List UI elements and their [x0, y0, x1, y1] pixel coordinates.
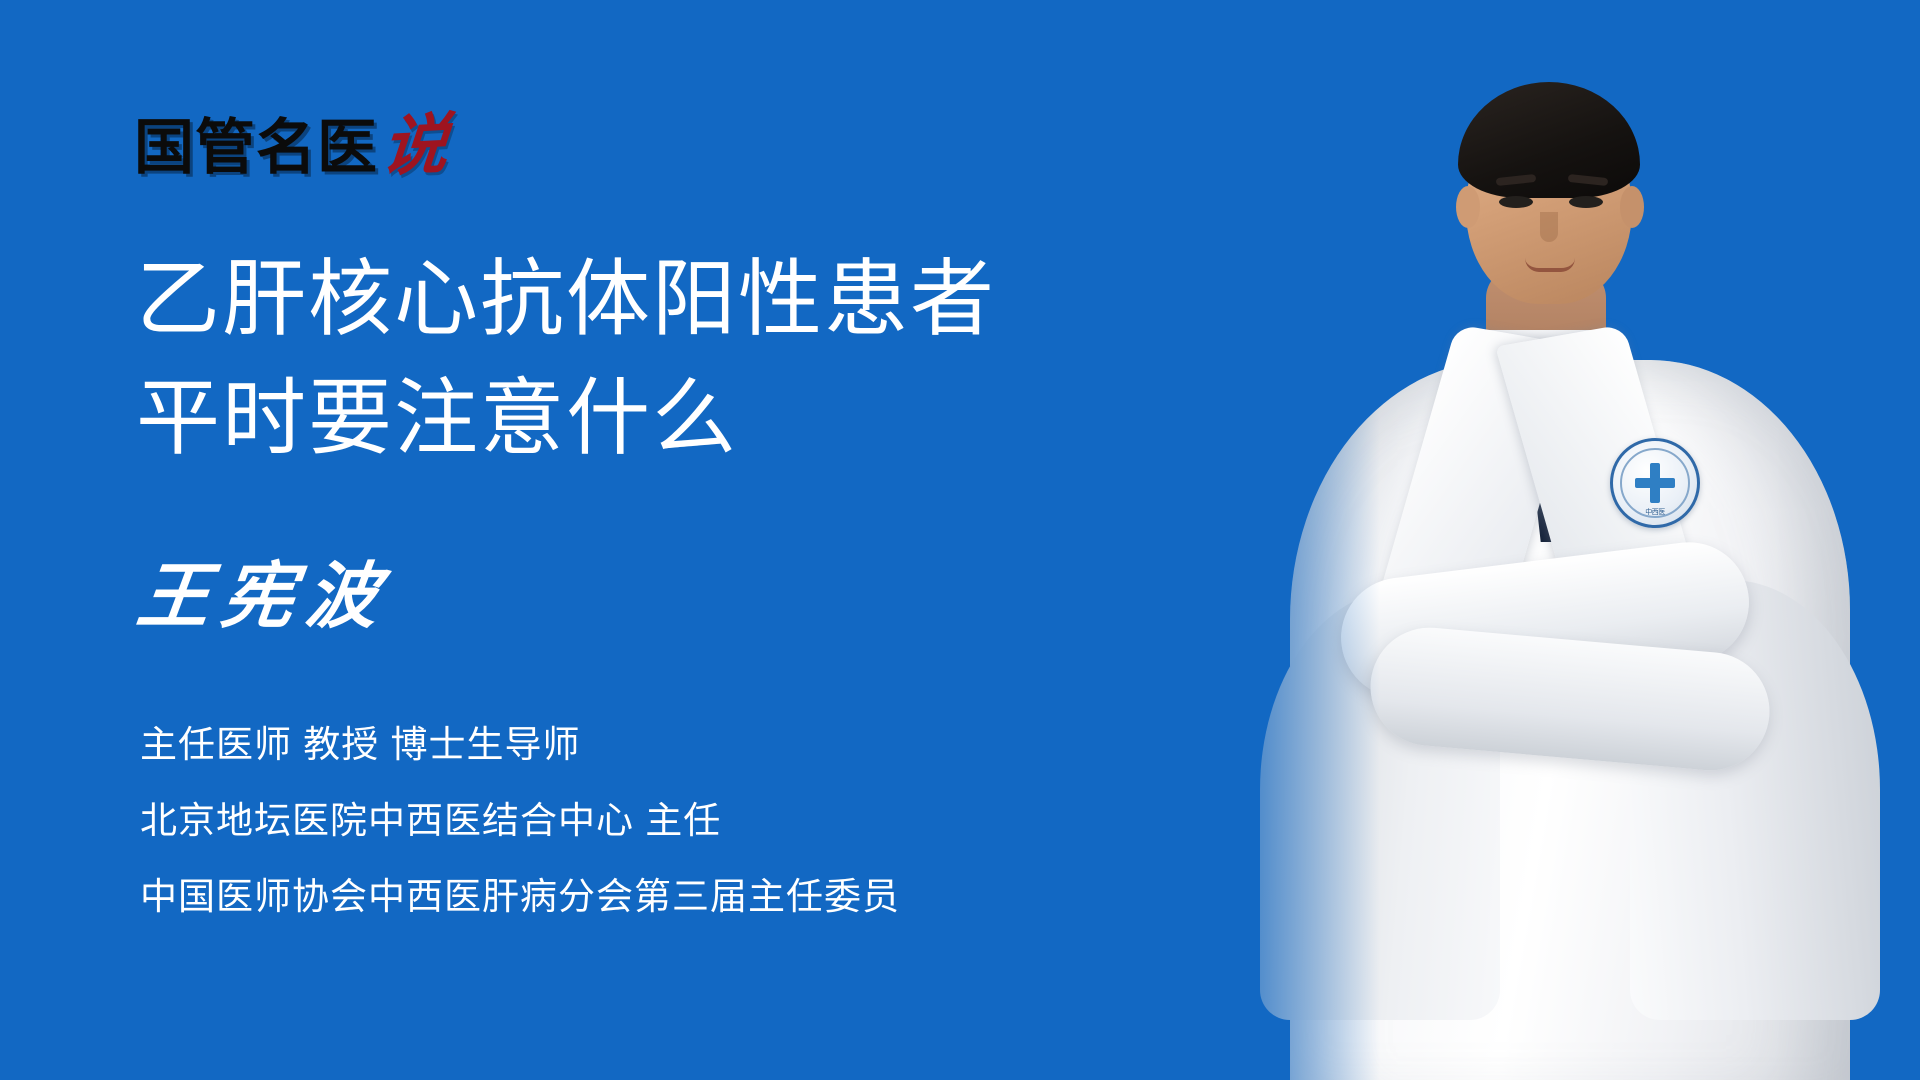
hair	[1458, 82, 1640, 198]
ear-left	[1456, 186, 1480, 228]
credential-line-1: 主任医师 教授 博士生导师	[140, 726, 900, 763]
doctor-portrait: 中西医	[1200, 0, 1920, 1080]
eye-left	[1499, 196, 1533, 208]
badge-label: 中西医	[1613, 507, 1697, 517]
program-logo: 国管名医 说	[134, 112, 448, 178]
credential-line-3: 中国医师协会中西医肝病分会第三届主任委员	[140, 878, 900, 915]
logo-primary-text: 国管名医	[134, 118, 378, 178]
eye-right	[1569, 196, 1603, 208]
speaker-name: 王宪波	[134, 560, 395, 632]
nose	[1540, 212, 1558, 242]
title-line-1: 乙肝核心抗体阳性患者	[136, 240, 1136, 359]
title-line-2: 平时要注意什么	[136, 359, 1136, 478]
page-title: 乙肝核心抗体阳性患者 平时要注意什么	[136, 240, 1136, 479]
logo-accent-text: 说	[379, 110, 451, 179]
mouth	[1525, 258, 1575, 272]
credential-line-2: 北京地坛医院中西医结合中心 主任	[140, 802, 900, 839]
title-card: 国管名医 说 乙肝核心抗体阳性患者 平时要注意什么 王宪波 主任医师 教授 博士…	[0, 0, 1920, 1080]
medical-cross-icon-bar	[1635, 478, 1675, 488]
ear-right	[1620, 186, 1644, 228]
hospital-badge-icon: 中西医	[1610, 438, 1700, 528]
speaker-credentials: 主任医师 教授 博士生导师 北京地坛医院中西医结合中心 主任 中国医师协会中西医…	[140, 726, 900, 915]
